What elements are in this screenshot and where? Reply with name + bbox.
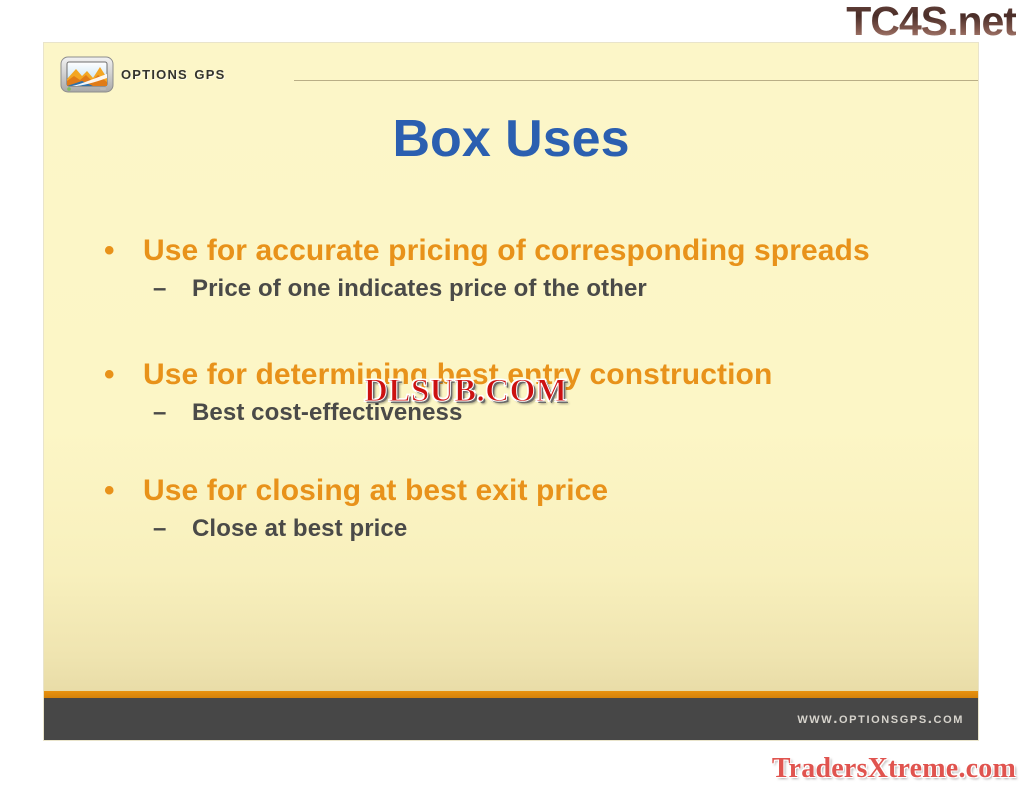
sub-bullet-marker: – xyxy=(153,396,166,431)
sub-bullet-text: Close at best price xyxy=(192,515,407,542)
sub-bullet-text: Price of one indicates price of the othe… xyxy=(192,275,647,302)
spacer xyxy=(96,307,956,353)
sub-bullet-item: – Price of one indicates price of the ot… xyxy=(96,272,956,307)
bullet-marker: • xyxy=(104,353,115,396)
bullet-group-3: • Use for closing at best exit price – C… xyxy=(96,469,956,547)
bullet-item: • Use for accurate pricing of correspond… xyxy=(96,229,956,272)
bullet-marker: • xyxy=(104,469,115,512)
slide-header: Options GPS xyxy=(44,43,978,101)
sub-bullet-marker: – xyxy=(153,512,166,547)
bullet-text: Use for closing at best exit price xyxy=(143,474,608,507)
bullet-item: • Use for closing at best exit price xyxy=(96,469,956,512)
watermark-tradersxtreme: TradersXtreme.com xyxy=(772,753,1016,785)
slide-footer: www.OptionsGPS.com xyxy=(44,698,978,740)
bullet-marker: • xyxy=(104,229,115,272)
header-divider xyxy=(294,80,978,81)
bullet-group-1: • Use for accurate pricing of correspond… xyxy=(96,229,956,307)
site-brand-tc4s: TC4S.net xyxy=(846,0,1016,45)
sub-bullet-marker: – xyxy=(153,272,166,307)
spacer xyxy=(96,431,956,469)
page-title: Box Uses xyxy=(44,109,978,169)
footer-url-text: www.OptionsGPS.com xyxy=(797,710,964,727)
watermark-dlsub: DLSUB.COM xyxy=(364,373,567,410)
footer-accent-stripe xyxy=(44,691,978,698)
gps-device-icon xyxy=(60,55,114,94)
bullet-text: Use for accurate pricing of correspondin… xyxy=(143,234,870,267)
sub-bullet-item: – Close at best price xyxy=(96,512,956,547)
logo-wordmark: Options GPS xyxy=(121,63,225,85)
